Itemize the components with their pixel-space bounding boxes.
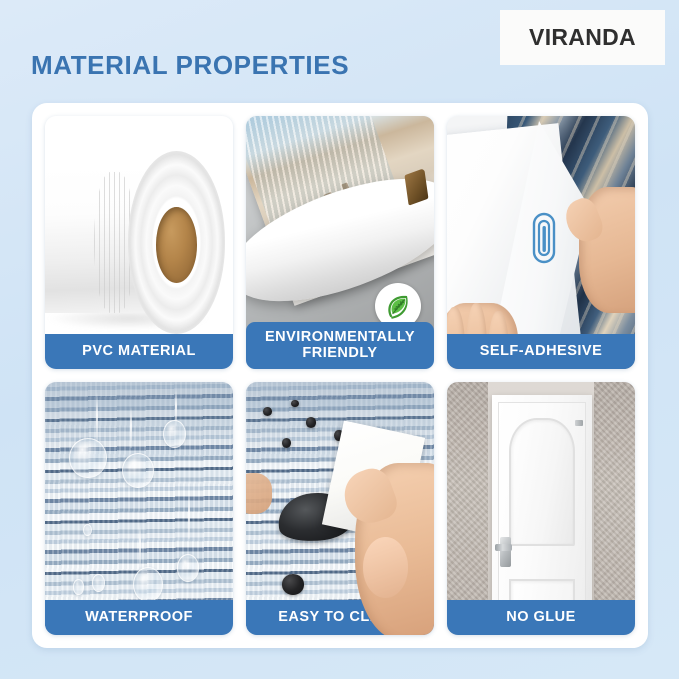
card-label-pvc-material: PVC MATERIAL [45,334,233,369]
card-label-waterproof: WATERPROOF [45,600,233,635]
peeling-backing-image [447,116,635,369]
stain-spot [291,400,299,408]
water-droplet [83,524,92,537]
feature-card-no-glue[interactable]: NO GLUE [447,382,635,635]
page-title: MATERIAL PROPERTIES [31,50,349,81]
background-hand [246,473,272,513]
card-label-line-2: FRIENDLY [302,345,377,361]
stain-spot [306,417,316,427]
roll-cardboard-core [156,207,197,283]
drip-trail [188,493,190,539]
water-droplet [92,574,105,592]
header: MATERIAL PROPERTIES VIRANDA [0,0,679,103]
card-label-environmentally-friendly: ENVIRONMENTALLY FRIENDLY [246,322,434,369]
door-handle-lever [495,544,512,551]
feature-card-waterproof[interactable]: WATERPROOF [45,382,233,635]
drip-trail [139,524,141,567]
water-droplet [73,579,84,594]
white-door-image [447,382,635,635]
drip-trail [130,407,132,447]
wiping-cloth-image [246,382,434,635]
feature-card-self-adhesive[interactable]: SELF-ADHESIVE [447,116,635,369]
paperclip-icon [532,212,556,264]
feature-grid: PVC MATERIAL [45,116,635,635]
feature-card-pvc-material[interactable]: PVC MATERIAL [45,116,233,369]
brand-logo-text: VIRANDA [529,24,636,51]
door-handle [500,537,511,567]
water-droplet [177,554,200,582]
leaf-icon [383,291,413,321]
door-latch-plate [575,420,583,425]
feature-panel: PVC MATERIAL [32,103,648,648]
water-droplet [122,453,154,488]
feature-card-environmentally-friendly[interactable]: ENVIRONMENTALLY FRIENDLY [246,116,434,369]
water-droplets-image [45,382,233,635]
wall-texture [594,382,635,635]
knuckles [363,537,408,597]
feature-card-easy-to-clean[interactable]: EASY TO CLEAN [246,382,434,635]
water-droplet [69,438,107,478]
pvc-roll-image [45,116,233,369]
brand-logo: VIRANDA [500,10,665,65]
drip-trail [96,392,98,443]
door-frame [492,395,592,635]
right-hand [579,187,635,314]
wall-left [447,382,488,635]
hand-holding-cloth [355,463,434,635]
card-label-self-adhesive: SELF-ADHESIVE [447,334,635,369]
wall-right [594,382,635,635]
wall-texture [447,382,488,635]
card-label-no-glue: NO GLUE [447,600,635,635]
stain-spot [282,438,291,448]
water-droplet [163,420,186,448]
stain-spot [282,574,305,594]
door-panel-upper [509,418,576,546]
card-label-line-1: ENVIRONMENTALLY [265,329,415,345]
